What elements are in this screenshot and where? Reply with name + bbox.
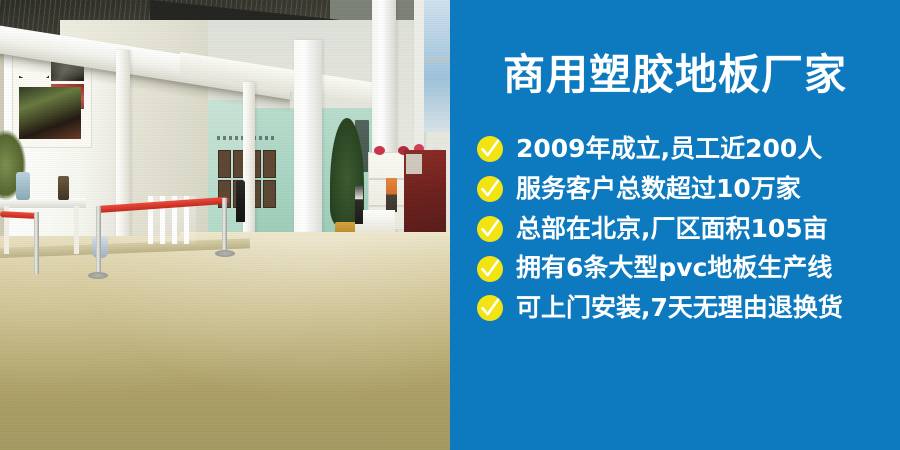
wall-artwork — [218, 150, 231, 178]
stanchion-post — [222, 198, 227, 252]
feature-list: 2009年成立,员工近200人 服务客户总数超过10万家 — [476, 135, 896, 323]
visitor-at-table — [355, 186, 363, 224]
flower-bloom — [374, 146, 385, 155]
feature-item: 总部在北京,厂区面积105亩 — [476, 215, 896, 244]
vase — [58, 176, 69, 200]
info-panel: 商用塑胶地板厂家 2009年成立,员工近200人 — [450, 0, 900, 450]
display-leaflet — [406, 154, 422, 174]
feature-text: 可上门安装,7天无理由退换货 — [516, 294, 843, 323]
pavilion-column — [116, 50, 130, 258]
hall-photo — [0, 0, 450, 450]
check-circle-icon — [476, 255, 504, 283]
window-pane — [424, 0, 450, 132]
feature-item: 服务客户总数超过10万家 — [476, 175, 896, 204]
hall-pillar — [294, 40, 322, 248]
feature-item: 2009年成立,员工近200人 — [476, 135, 896, 164]
poster-photo-large — [19, 87, 81, 139]
feature-item: 可上门安装,7天无理由退换货 — [476, 294, 896, 323]
feature-text: 服务客户总数超过10万家 — [516, 175, 801, 204]
check-circle-icon — [476, 215, 504, 243]
stanchion-base — [88, 272, 108, 279]
check-circle-icon — [476, 135, 504, 163]
wall-artwork — [263, 150, 276, 178]
pavilion-column — [243, 82, 255, 250]
stanchion-post — [96, 206, 101, 274]
check-circle-icon — [476, 175, 504, 203]
stanchion-post — [34, 212, 39, 274]
stanchion-base — [215, 250, 235, 257]
feature-text: 拥有6条大型pvc地板生产线 — [516, 254, 832, 283]
feature-text: 2009年成立,员工近200人 — [516, 135, 822, 164]
visitor-orange — [386, 178, 397, 212]
wall-artwork — [263, 180, 276, 208]
pvc-floor — [0, 236, 450, 450]
vase — [16, 172, 30, 200]
red-product-display — [404, 150, 446, 245]
feature-item: 拥有6条大型pvc地板生产线 — [476, 254, 896, 283]
feature-text: 总部在北京,厂区面积105亩 — [516, 215, 828, 244]
panel-title: 商用塑胶地板厂家 — [450, 54, 900, 96]
promo-banner: 商用塑胶地板厂家 2009年成立,员工近200人 — [0, 0, 900, 450]
check-circle-icon — [476, 294, 504, 322]
desk-leg — [74, 206, 79, 254]
visitor-standing — [236, 180, 245, 222]
